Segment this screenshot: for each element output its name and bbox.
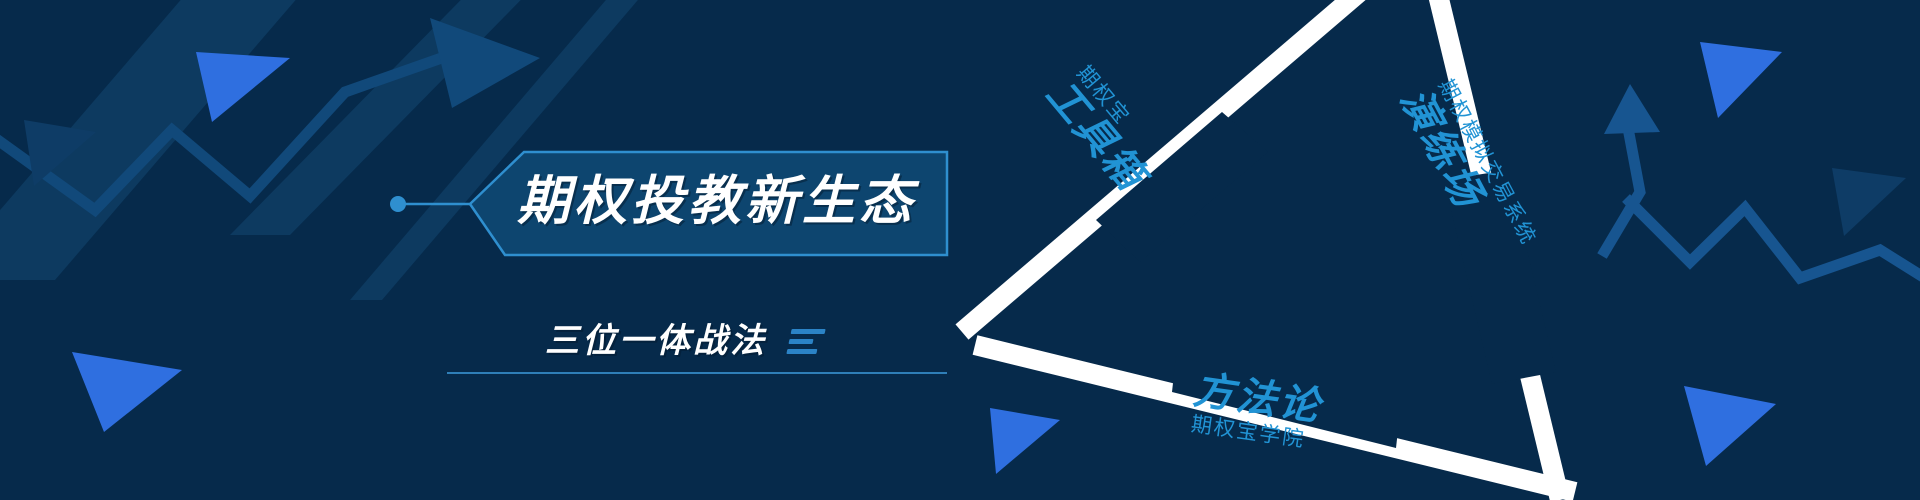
subtitle-container: 三位一体战法 xyxy=(545,318,950,380)
three-bars-icon xyxy=(786,329,825,354)
subtitle-underline xyxy=(447,372,947,374)
three-bars-icon-bar-3 xyxy=(786,349,817,354)
three-bars-icon-bar-1 xyxy=(791,329,826,334)
banner-root: 期权投教新生态 三位一体战法 期权宝 工具箱 期权模拟交易系统 演练场 方法论 … xyxy=(0,0,1920,500)
title-box-dot xyxy=(390,196,406,212)
three-bars-icon-bar-2 xyxy=(788,339,813,344)
subtitle-text: 三位一体战法 xyxy=(545,318,767,364)
subtitle-row: 三位一体战法 xyxy=(545,318,823,364)
headline-container: 期权投教新生态 xyxy=(447,152,947,255)
background-decor xyxy=(0,0,1920,500)
page-title: 期权投教新生态 xyxy=(517,166,916,238)
